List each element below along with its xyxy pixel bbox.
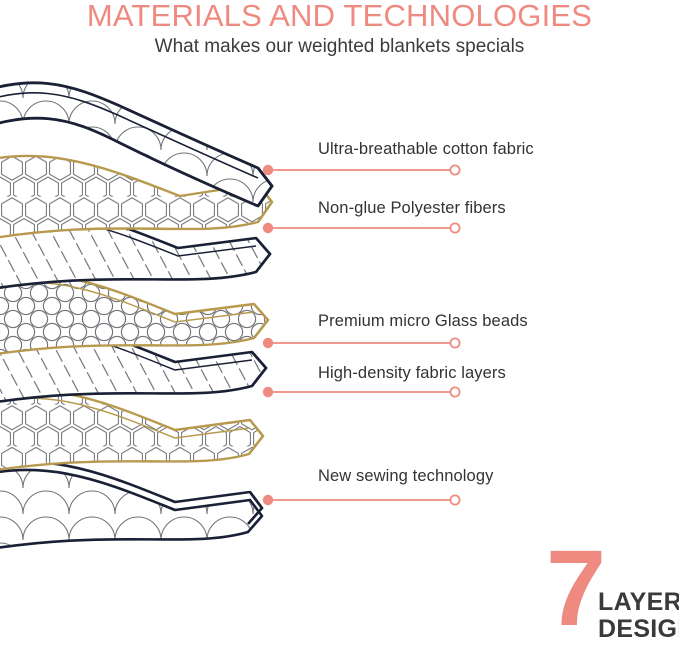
callout-label-5: New sewing technology (318, 467, 493, 486)
page-title: MATERIALS AND TECHNOLOGIES (0, 0, 679, 34)
blanket-layer-7 (0, 462, 262, 554)
seven-layer-design-badge: 7 LAYER DESIGN (546, 548, 676, 648)
callout-label-2: Non-glue Polyester fibers (318, 199, 506, 218)
badge-design-text: DESIGN (598, 617, 679, 642)
callout-label-4: High-density fabric layers (318, 364, 506, 383)
badge-layer-text: LAYER (598, 590, 679, 615)
infographic-root: MATERIALS AND TECHNOLOGIES What makes ou… (0, 0, 679, 654)
blanket-layer-6 (0, 390, 263, 476)
callout-label-3: Premium micro Glass beads (318, 312, 528, 331)
page-subtitle: What makes our weighted blankets special… (0, 36, 679, 58)
callout-label-1: Ultra-breathable cotton fabric (318, 140, 534, 159)
